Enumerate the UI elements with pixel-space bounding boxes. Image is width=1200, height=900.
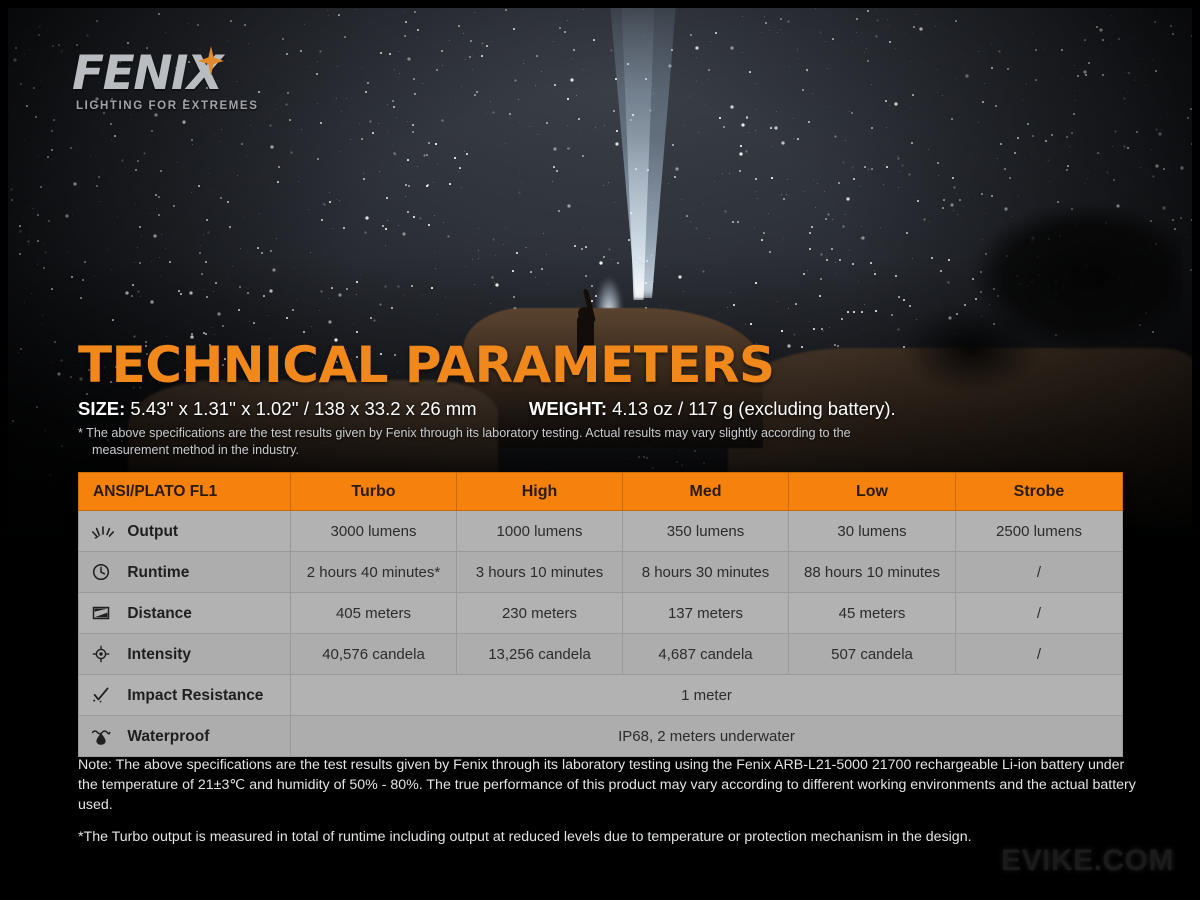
row-label-distance: Distance: [79, 593, 291, 634]
disclaimer-line-1: * The above specifications are the test …: [78, 426, 851, 440]
cell-output-med: 350 lumens: [623, 511, 789, 552]
cell-runtime-high: 3 hours 10 minutes: [457, 552, 623, 593]
header-med: Med: [623, 473, 789, 511]
light-burst-icon: [91, 521, 115, 541]
page-title: TECHNICAL PARAMETERS: [78, 340, 1128, 390]
disclaimer-line-2: measurement method in the industry.: [78, 442, 1118, 459]
table-header-row: ANSI/PLATO FL1 Turbo High Med Low Strobe: [79, 473, 1123, 511]
cell-runtime-low: 88 hours 10 minutes: [789, 552, 956, 593]
cell-intensity-low: 507 candela: [789, 634, 956, 675]
size-label: SIZE:: [78, 398, 125, 419]
row-label-intensity: Intensity: [79, 634, 291, 675]
cell-intensity-med: 4,687 candela: [623, 634, 789, 675]
note-block: Note: The above specifications are the t…: [78, 755, 1140, 848]
table-row: Runtime 2 hours 40 minutes* 3 hours 10 m…: [79, 552, 1123, 593]
row-label-runtime: Runtime: [79, 552, 291, 593]
table-row: Impact Resistance 1 meter: [79, 675, 1123, 716]
row-label-output: Output: [79, 511, 291, 552]
stars-layer-dim: [8, 8, 9, 9]
brand-tagline: LIGHTING FOR EXTREMES: [72, 100, 282, 112]
evike-watermark: EVIKE.COM: [1001, 844, 1174, 878]
technical-parameters-table: ANSI/PLATO FL1 Turbo High Med Low Strobe: [78, 472, 1123, 757]
row-label-text: Distance: [127, 605, 192, 622]
cell-runtime-strobe: /: [956, 552, 1123, 593]
fenix-logo: FENIX LIGHTING FOR EXTREMES: [72, 50, 282, 112]
title-block: TECHNICAL PARAMETERS SIZE: 5.43'' x 1.31…: [78, 340, 1128, 458]
cell-distance-turbo: 405 meters: [291, 593, 457, 634]
cell-waterproof-value: IP68, 2 meters underwater: [291, 716, 1123, 757]
header-turbo: Turbo: [291, 473, 457, 511]
size-weight-line: SIZE: 5.43'' x 1.31'' x 1.02'' / 138 x 3…: [78, 398, 1128, 420]
impact-drop-icon: [91, 685, 115, 705]
note-main-text: Note: The above specifications are the t…: [78, 755, 1140, 815]
cell-impact-resistance-value: 1 meter: [291, 675, 1123, 716]
disclaimer-text: * The above specifications are the test …: [78, 425, 1118, 458]
table-row: Intensity 40,576 candela 13,256 candela …: [79, 634, 1123, 675]
cell-output-low: 30 lumens: [789, 511, 956, 552]
waterproof-icon: [91, 726, 115, 746]
row-label-text: Intensity: [127, 646, 191, 663]
cell-distance-strobe: /: [956, 593, 1123, 634]
cell-output-strobe: 2500 lumens: [956, 511, 1123, 552]
row-label-text: Impact Resistance: [127, 687, 263, 704]
cell-runtime-med: 8 hours 30 minutes: [623, 552, 789, 593]
cell-distance-high: 230 meters: [457, 593, 623, 634]
row-label-waterproof: Waterproof: [79, 716, 291, 757]
header-high: High: [457, 473, 623, 511]
product-spec-slide: FENIX LIGHTING FOR EXTREMES TECHNICAL PA…: [0, 0, 1200, 900]
size-value: 5.43'' x 1.31'' x 1.02'' / 138 x 33.2 x …: [130, 398, 476, 419]
header-low: Low: [789, 473, 956, 511]
crosshair-intensity-icon: [91, 644, 115, 664]
weight-value: 4.13 oz / 117 g (excluding battery).: [612, 398, 896, 419]
row-label-text: Output: [127, 523, 178, 540]
cell-runtime-turbo: 2 hours 40 minutes*: [291, 552, 457, 593]
table-row: Waterproof IP68, 2 meters underwater: [79, 716, 1123, 757]
table-row: Distance 405 meters 230 meters 137 meter…: [79, 593, 1123, 634]
cell-output-turbo: 3000 lumens: [291, 511, 457, 552]
header-strobe: Strobe: [956, 473, 1123, 511]
cell-output-high: 1000 lumens: [457, 511, 623, 552]
table-row: Output 3000 lumens 1000 lumens 350 lumen…: [79, 511, 1123, 552]
cell-intensity-turbo: 40,576 candela: [291, 634, 457, 675]
row-label-impact-resistance: Impact Resistance: [79, 675, 291, 716]
note-turbo-text: *The Turbo output is measured in total o…: [78, 827, 1140, 847]
cell-distance-med: 137 meters: [623, 593, 789, 634]
row-label-text: Waterproof: [127, 728, 209, 745]
header-ansi-plato: ANSI/PLATO FL1: [79, 473, 291, 511]
cell-intensity-strobe: /: [956, 634, 1123, 675]
cell-distance-low: 45 meters: [789, 593, 956, 634]
cell-intensity-high: 13,256 candela: [457, 634, 623, 675]
clock-icon: [91, 562, 115, 582]
row-label-text: Runtime: [127, 564, 189, 581]
weight-label: WEIGHT:: [529, 398, 607, 419]
beam-distance-icon: [91, 603, 115, 623]
brand-name: FENIX: [72, 50, 282, 97]
